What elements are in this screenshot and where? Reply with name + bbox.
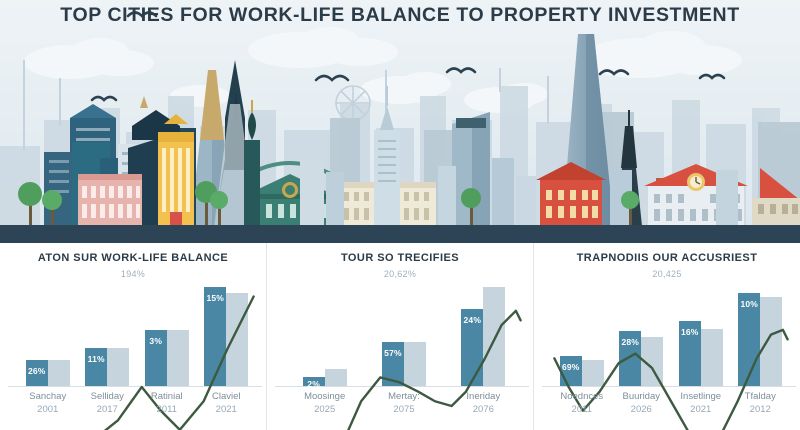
x-tick-year: 2011 [552, 403, 612, 417]
chart-subtitle-2: 20,62% [267, 269, 533, 279]
x-axis-labels-2: Moosinge 2025 Mertay: 2075 Ineriday 2076 [285, 390, 523, 426]
x-tick-name: Mertay: [364, 390, 443, 403]
infographic-page: TOP CITIES FOR WORK-LIFE BALANCE TO PROP… [0, 0, 800, 430]
x-tick-name: Insetlinge [671, 390, 731, 403]
chart-title-3: TRAPNODIIS OUR ACCUSRIEST [534, 252, 800, 264]
x-tick: Claviel 2021 [197, 390, 257, 426]
x-tick-name: Noednces [552, 390, 612, 403]
x-tick-name: Sanchay [18, 390, 78, 403]
city-skyline-illustration [0, 0, 800, 243]
chart-panel-1: ATON SUR WORK-LIFE BALANCE 194% 26% 11% [0, 243, 266, 430]
x-tick: Ineriday 2076 [444, 390, 523, 426]
x-tick-name: Ineriday [444, 390, 523, 403]
x-tick-year: 2021 [197, 403, 257, 417]
charts-row: ATON SUR WORK-LIFE BALANCE 194% 26% 11% [0, 243, 800, 430]
x-tick-name: Claviel [197, 390, 257, 403]
chart-subtitle-1: 194% [0, 269, 266, 279]
chart-subtitle-3: 20,425 [534, 269, 800, 279]
ferris-wheel-icon [336, 86, 370, 120]
x-tick-year: 2025 [285, 403, 364, 417]
tower-block-left2 [44, 152, 74, 226]
x-tick-year: 2075 [364, 403, 443, 417]
chart-panel-3: TRAPNODIIS OUR ACCUSRIEST 20,425 69% 28% [533, 243, 800, 430]
x-axis-labels-3: Noednces 2011 Buuriday 2026 Insetlinge 2… [552, 390, 790, 426]
x-tick-name: Ratinial [137, 390, 197, 403]
x-axis-labels-1: Sanchay 2001 Selliday 2017 Ratinial 2011… [18, 390, 256, 426]
x-tick-name: Tfalday [731, 390, 791, 403]
x-tick-year: 2076 [444, 403, 523, 417]
x-tick: Mertay: 2075 [364, 390, 443, 426]
x-tick-year: 2001 [18, 403, 78, 417]
x-tick-year: 2012 [731, 403, 791, 417]
chart-panel-2: TOUR SO TRECIFIES 20,62% 2% 57% [266, 243, 533, 430]
x-tick: Moosinge 2025 [285, 390, 364, 426]
ground-band [0, 225, 800, 243]
x-tick-year: 2021 [671, 403, 731, 417]
x-tick: Ratinial 2011 [137, 390, 197, 426]
hero-banner: TOP CITIES FOR WORK-LIFE BALANCE TO PROP… [0, 0, 800, 243]
x-tick-year: 2011 [137, 403, 197, 417]
x-tick-name: Buuriday [612, 390, 672, 403]
x-tick-year: 2017 [78, 403, 138, 417]
chart-title-2: TOUR SO TRECIFIES [267, 252, 533, 264]
x-tick: Noednces 2011 [552, 390, 612, 426]
x-tick-name: Moosinge [285, 390, 364, 403]
x-tick-name: Selliday [78, 390, 138, 403]
page-title: TOP CITIES FOR WORK-LIFE BALANCE TO PROP… [0, 4, 800, 27]
x-tick: Selliday 2017 [78, 390, 138, 426]
x-tick: Buuriday 2026 [612, 390, 672, 426]
x-tick: Tfalday 2012 [731, 390, 791, 426]
x-tick-year: 2026 [612, 403, 672, 417]
x-tick: Sanchay 2001 [18, 390, 78, 426]
chart-title-1: ATON SUR WORK-LIFE BALANCE [0, 252, 266, 264]
classical-building-pink [78, 174, 142, 226]
x-tick: Insetlinge 2021 [671, 390, 731, 426]
